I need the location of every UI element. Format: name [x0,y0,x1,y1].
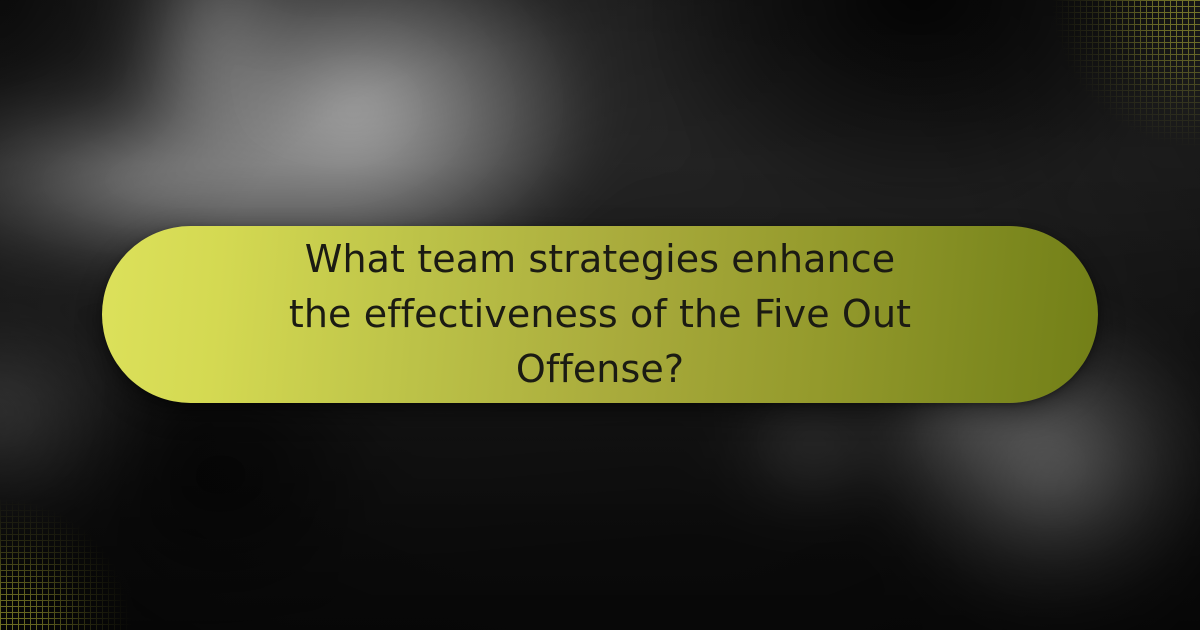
share-card-canvas: What team strategies enhance the effecti… [0,0,1200,630]
question-pill-card: What team strategies enhance the effecti… [102,226,1098,403]
question-title: What team strategies enhance the effecti… [270,232,930,397]
